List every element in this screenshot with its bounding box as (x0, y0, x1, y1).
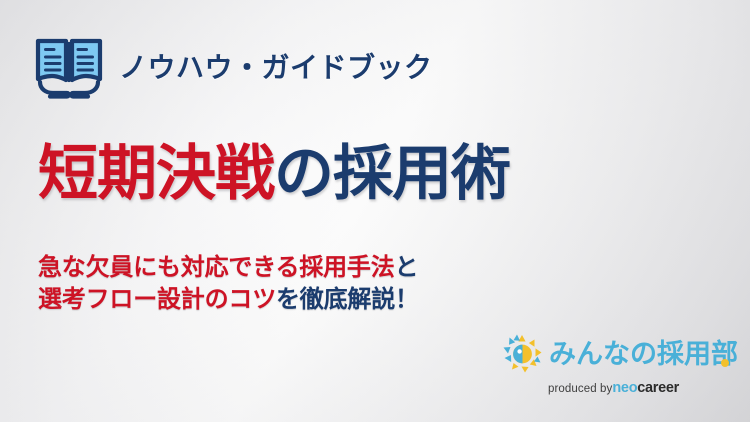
subtitle-line2-red: 選考フロー設計のコツ (38, 286, 276, 313)
headline-red-segment: 短期決戦 (38, 140, 274, 207)
logo-tagline: produced byneocareer (503, 381, 718, 396)
subtitle: 急な欠員にも対応できる採用手法と 選考フロー設計のコツを徹底解説！ (38, 252, 419, 315)
subtitle-line1-red: 急な欠員にも対応できる採用手法 (38, 254, 395, 281)
logo-block: みんなの採用部 produced byneocareer (503, 334, 718, 396)
kicker-row: ノウハウ・ガイドブック (33, 36, 433, 100)
sun-icon (503, 334, 543, 374)
kicker-label: ノウハウ・ガイドブック (119, 54, 433, 82)
open-book-icon (33, 36, 105, 100)
headline-navy-segment: の採用術 (274, 140, 510, 207)
headline: 短期決戦の採用術 (38, 142, 510, 205)
subtitle-line-2: 選考フロー設計のコツを徹底解説！ (38, 284, 419, 316)
logo-main-row: みんなの採用部 (503, 334, 718, 374)
logo-wordmark-part1: みんなの採用 (549, 339, 711, 369)
subtitle-line1-navy: と (395, 254, 419, 281)
logo-brand-neo: neo (612, 380, 637, 396)
logo-wordmark-part2: 部 (711, 341, 738, 368)
subtitle-line-1: 急な欠員にも対応できる採用手法と (38, 252, 419, 284)
subtitle-line2-navy: を徹底解説！ (276, 286, 419, 313)
logo-produced-by: produced by (548, 383, 612, 395)
logo-brand-career: career (637, 380, 679, 396)
logo-bu-accent-dot (721, 359, 729, 367)
banner-root: ノウハウ・ガイドブック 短期決戦の採用術 急な欠員にも対応できる採用手法と 選考… (0, 0, 750, 422)
logo-wordmark: みんなの採用部 (549, 341, 738, 368)
